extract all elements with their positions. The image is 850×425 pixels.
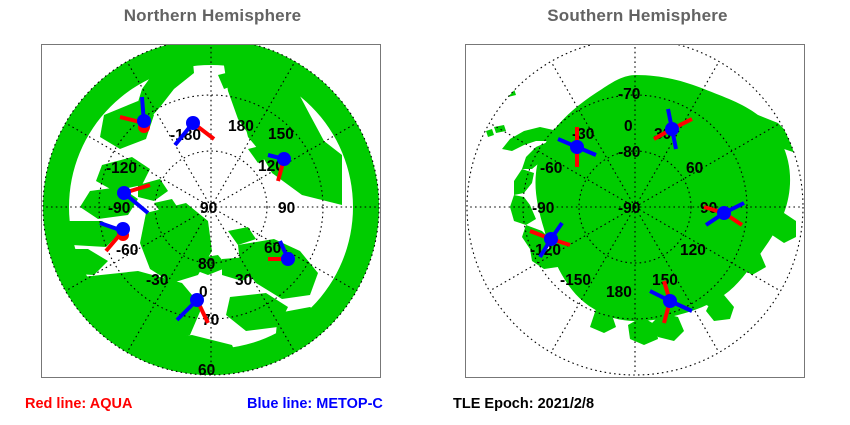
lat-label-60: 60 bbox=[198, 362, 215, 377]
legend-red-aqua: Red line: AQUA bbox=[25, 396, 132, 412]
lat-label-80: 80 bbox=[198, 256, 215, 273]
polar-map-south: -60 -70 -80 -90 0 30 60 90 120 150 180 -… bbox=[466, 45, 804, 377]
lon-label-90: 90 bbox=[278, 200, 295, 217]
lon-label-30: 30 bbox=[235, 272, 252, 289]
lon-label-0: 0 bbox=[624, 118, 633, 135]
lon-label-120: 120 bbox=[680, 242, 706, 259]
lon-label--90: -90 bbox=[532, 200, 554, 217]
figure-root: Northern Hemisphere bbox=[0, 0, 850, 425]
polar-map-north: -180 180 150 -120 120 -90 90 -60 60 -30 … bbox=[42, 45, 380, 377]
legend-blue-metop-c: Blue line: METOP-C bbox=[247, 396, 383, 412]
lat-label-90: 90 bbox=[200, 200, 217, 217]
lon-label-150: 150 bbox=[268, 126, 294, 143]
lon-label--30: -30 bbox=[146, 272, 168, 289]
lon-label--60: -60 bbox=[540, 160, 562, 177]
panel-title-north: Northern Hemisphere bbox=[0, 6, 425, 26]
lon-label--60: -60 bbox=[116, 242, 138, 259]
plot-frame-south: -60 -70 -80 -90 0 30 60 90 120 150 180 -… bbox=[465, 44, 805, 378]
lat-label--90: -90 bbox=[618, 200, 640, 217]
lon-label--120: -120 bbox=[106, 160, 137, 177]
lat-label--60: -60 bbox=[618, 45, 640, 48]
lon-label-180: 180 bbox=[606, 284, 632, 301]
tle-epoch-label: TLE Epoch: 2021/2/8 bbox=[453, 396, 594, 412]
lon-label-180: 180 bbox=[228, 118, 254, 135]
panel-southern-hemisphere: Southern Hemisphere bbox=[425, 0, 850, 425]
lon-label-60: 60 bbox=[686, 160, 703, 177]
panel-title-south: Southern Hemisphere bbox=[425, 6, 850, 26]
lat-label--80: -80 bbox=[618, 144, 640, 161]
panel-northern-hemisphere: Northern Hemisphere bbox=[0, 0, 425, 425]
lat-label--70: -70 bbox=[618, 86, 640, 103]
lon-label--150: -150 bbox=[560, 272, 591, 289]
plot-frame-north: -180 180 150 -120 120 -90 90 -60 60 -30 … bbox=[41, 44, 381, 378]
lon-label--90: -90 bbox=[108, 200, 130, 217]
